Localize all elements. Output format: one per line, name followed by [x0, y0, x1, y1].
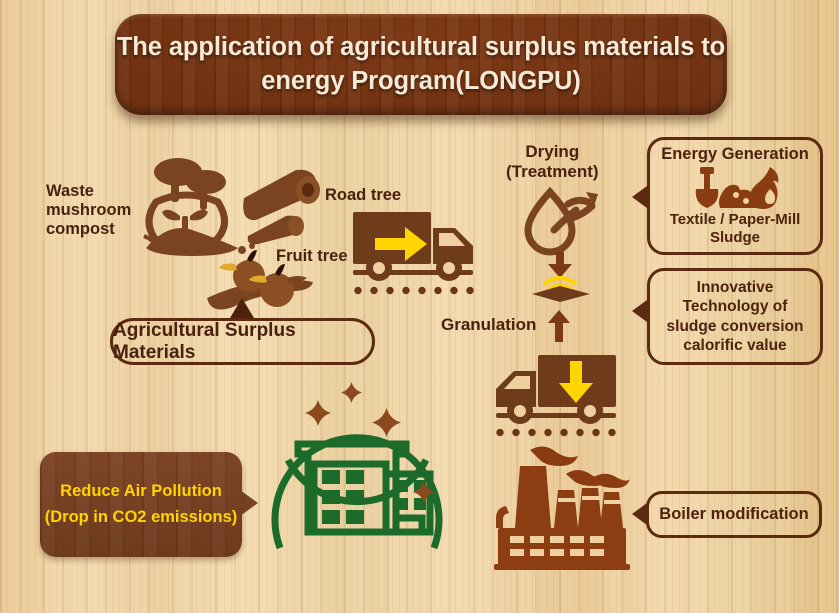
- label-waste-mushroom-compost: Waste mushroom compost: [46, 182, 131, 239]
- sparkle-icon: [372, 408, 401, 437]
- panel-innovative-technology[interactable]: Innovative Technology of sludge conversi…: [647, 268, 823, 365]
- flame-icon: [750, 167, 779, 209]
- energy-generation-icons: [686, 167, 784, 209]
- water-drop-dry-icon: [524, 188, 602, 256]
- energy-generation-title: Energy Generation: [661, 145, 809, 165]
- reduce-air-pollution-callout[interactable]: Reduce Air Pollution (Drop in CO2 emissi…: [40, 452, 242, 557]
- label-fruit-tree: Fruit tree: [276, 247, 348, 266]
- innovative-technology-tail: [632, 300, 647, 322]
- panel-energy-generation[interactable]: Energy Generation Textile / Paper-Mill S…: [647, 137, 823, 255]
- shovel-sludge-icon: [696, 167, 757, 208]
- pill-label: Agricultural Surplus Materials: [113, 320, 372, 364]
- innovative-technology-title: Innovative Technology of sludge conversi…: [667, 278, 804, 356]
- label-drying: Drying (Treatment): [506, 142, 599, 181]
- page-title: The application of agricultural surplus …: [115, 31, 727, 98]
- sparkle-icon: [305, 400, 331, 426]
- road-dashes-bottom: [492, 428, 624, 437]
- granulation-stack-icon: [528, 252, 594, 302]
- delivery-truck-right-icon: [353, 212, 478, 284]
- sparkle-icon: [341, 382, 362, 403]
- pollution-callout-tail: [240, 490, 258, 516]
- delivery-truck-down-icon: [492, 355, 617, 427]
- reduce-air-pollution-text: Reduce Air Pollution (Drop in CO2 emissi…: [45, 479, 238, 530]
- energy-generation-tail: [632, 186, 647, 208]
- energy-generation-subtitle: Textile / Paper-Mill Sludge: [670, 211, 801, 247]
- infographic-canvas: The application of agricultural surplus …: [0, 0, 839, 613]
- panel-boiler-modification[interactable]: Boiler modification: [646, 491, 822, 538]
- road-tree-log-icon: [242, 168, 328, 244]
- factory-boiler-icon: [490, 444, 630, 572]
- sparkle-icon: [413, 481, 435, 503]
- agricultural-surplus-materials-pill[interactable]: Agricultural Surplus Materials: [110, 318, 375, 365]
- boiler-modification-title: Boiler modification: [659, 505, 808, 524]
- arrow-down-icon: [548, 252, 572, 278]
- label-granulation: Granulation: [441, 315, 536, 335]
- pill-tail: [230, 298, 254, 318]
- label-road-tree: Road tree: [325, 186, 401, 205]
- arrow-up-icon: [548, 310, 570, 342]
- title-banner: The application of agricultural surplus …: [115, 14, 727, 115]
- road-dashes-top: [350, 286, 480, 295]
- boiler-modification-tail: [632, 503, 647, 525]
